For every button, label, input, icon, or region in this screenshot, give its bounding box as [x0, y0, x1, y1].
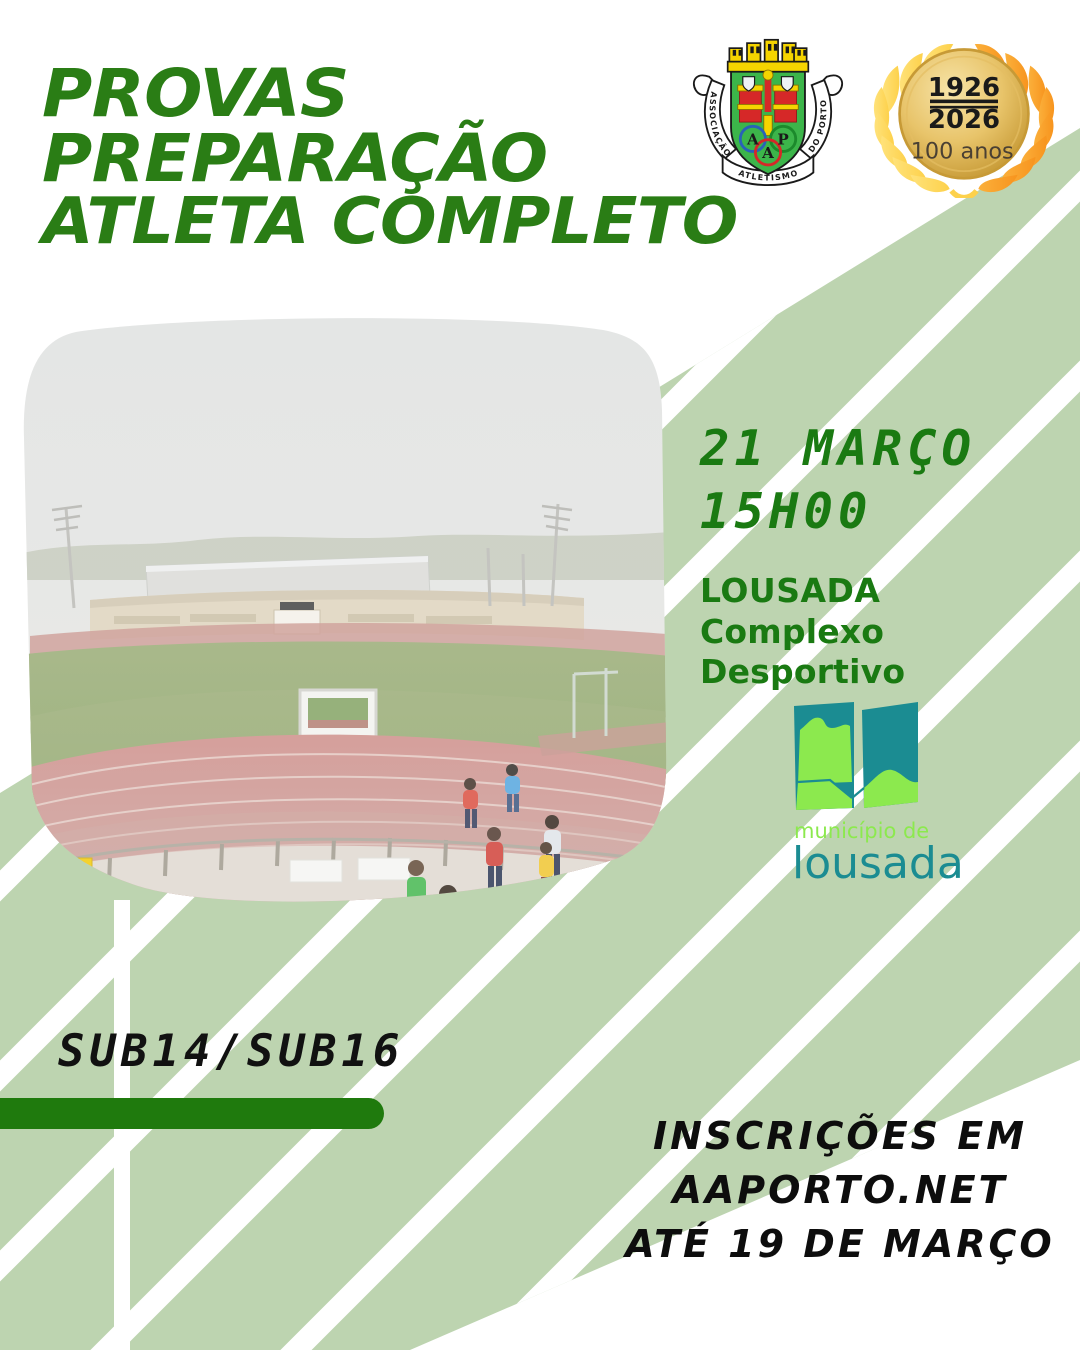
aap-crest-logo: A P A ASSOCIAÇÃO DE DO PORTO ATLETISMO: [684, 28, 852, 196]
title-line-1: PROVAS: [42, 62, 738, 127]
aap-letter-a1: A: [746, 131, 759, 149]
registration-block: INSCRIÇÕES EM AAPORTO.NET ATÉ 19 DE MARÇ…: [620, 1110, 1060, 1272]
registration-website[interactable]: AAPORTO.NET: [620, 1164, 1060, 1218]
poster-canvas: PROVAS PREPARAÇÃO ATLETA COMPLETO: [0, 0, 1080, 1350]
registration-deadline: ATÉ 19 DE MARÇO: [620, 1218, 1060, 1272]
event-venue: Complexo Desportivo: [700, 612, 1072, 693]
athletics-track-photo: [18, 318, 670, 906]
centenary-badge: 1926 2026 100 anos: [864, 28, 1064, 198]
centenary-caption: 100 anos: [911, 139, 1014, 165]
aap-letter-p: P: [777, 131, 788, 149]
title-line-2: PREPARAÇÃO: [42, 127, 738, 192]
registration-line-1: INSCRIÇÕES EM: [620, 1110, 1060, 1164]
lousada-logo-line2: lousada: [792, 838, 964, 888]
page-title: PROVAS PREPARAÇÃO ATLETA COMPLETO: [42, 62, 738, 254]
category-bar: [0, 1098, 384, 1129]
event-info: 21 MARÇO 15H00 LOUSADA Complexo Desporti…: [700, 418, 1072, 692]
category-label: SUB14/SUB16: [58, 1026, 404, 1077]
centenary-year-from: 1926: [928, 73, 1000, 103]
title-line-3: ATLETA COMPLETO: [42, 191, 738, 254]
logo-row: A P A ASSOCIAÇÃO DE DO PORTO ATLETISMO: [684, 28, 1064, 198]
event-date: 21 MARÇO: [700, 418, 1072, 481]
event-time: 15H00: [700, 481, 1072, 544]
centenary-year-to: 2026: [928, 105, 1000, 135]
aap-letter-a2: A: [761, 144, 774, 162]
event-city: LOUSADA: [700, 571, 1072, 611]
municipio-lousada-logo: município de lousada: [790, 698, 990, 888]
